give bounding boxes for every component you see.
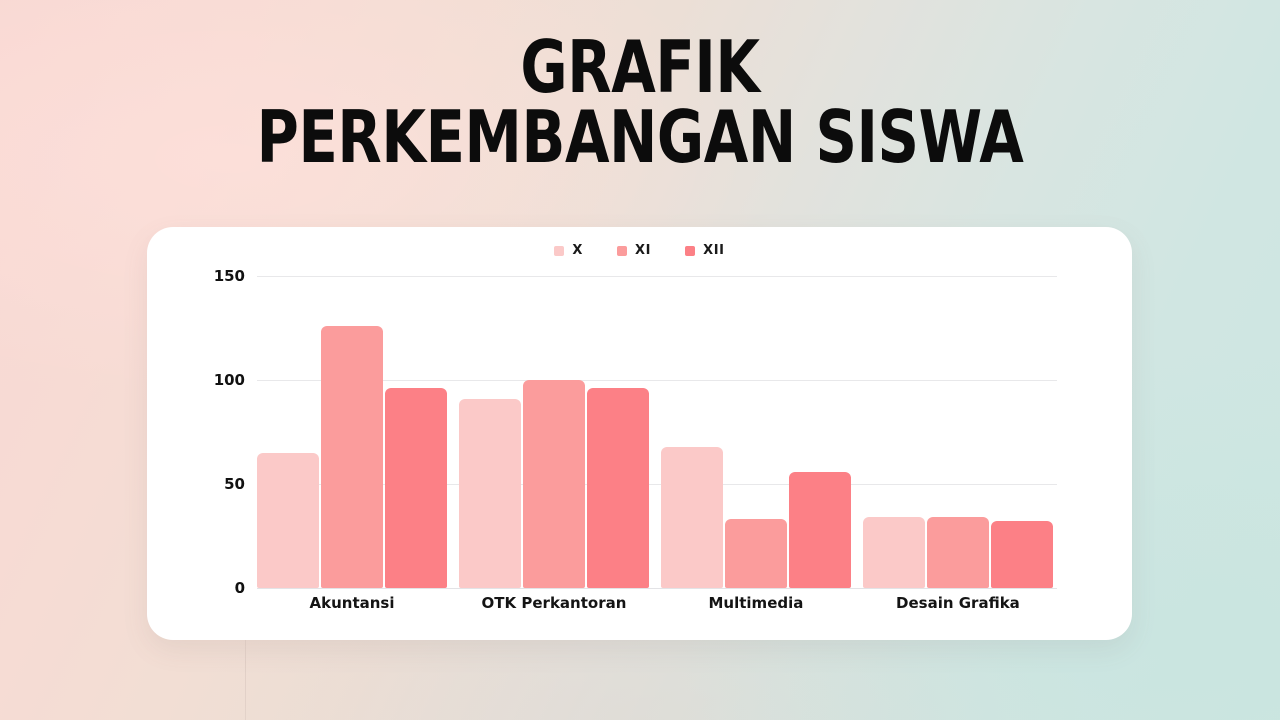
bar[interactable]	[587, 388, 649, 588]
bar[interactable]	[257, 453, 319, 588]
y-axis-tick-label: 100	[214, 371, 245, 389]
bar[interactable]	[523, 380, 585, 588]
bar[interactable]	[725, 519, 787, 588]
legend-item-label: XI	[635, 243, 651, 258]
title-line-primary: GRAFIK	[128, 34, 1152, 100]
y-axis-tick-label: 150	[214, 267, 245, 285]
legend-swatch-icon	[617, 246, 627, 256]
bar[interactable]	[385, 388, 447, 588]
bar-group	[863, 276, 1053, 588]
bar[interactable]	[863, 517, 925, 588]
bar[interactable]	[789, 472, 851, 588]
legend-item-label: X	[572, 243, 583, 258]
chart-x-axis-labels: AkuntansiOTK PerkantoranMultimediaDesain…	[257, 594, 1057, 618]
legend-item[interactable]: XII	[685, 243, 725, 258]
bar-group	[459, 276, 649, 588]
bar-group	[661, 276, 851, 588]
legend-item[interactable]: X	[554, 243, 583, 258]
legend-swatch-icon	[554, 246, 564, 256]
x-axis-category-label: OTK Perkantoran	[459, 594, 649, 612]
chart-bars	[257, 276, 1057, 588]
gridline	[257, 588, 1057, 589]
x-axis-category-label: Desain Grafika	[863, 594, 1053, 612]
legend-item[interactable]: XI	[617, 243, 651, 258]
bar[interactable]	[321, 326, 383, 588]
title-line-secondary: PERKEMBANGAN SISWA	[128, 104, 1152, 170]
bar[interactable]	[661, 447, 723, 588]
chart-plot-area: 050100150	[257, 276, 1057, 588]
legend-swatch-icon	[685, 246, 695, 256]
bar[interactable]	[459, 399, 521, 588]
page-title: GRAFIK PERKEMBANGAN SISWA	[0, 34, 1280, 170]
x-axis-category-label: Akuntansi	[257, 594, 447, 612]
bar[interactable]	[927, 517, 989, 588]
chart-legend: XXIXII	[147, 243, 1132, 258]
y-axis-tick-label: 50	[224, 475, 245, 493]
y-axis-tick-label: 0	[235, 579, 245, 597]
x-axis-category-label: Multimedia	[661, 594, 851, 612]
legend-item-label: XII	[703, 243, 725, 258]
chart-card: XXIXII 050100150 AkuntansiOTK Perkantora…	[147, 227, 1132, 640]
bar[interactable]	[991, 521, 1053, 588]
bar-group	[257, 276, 447, 588]
